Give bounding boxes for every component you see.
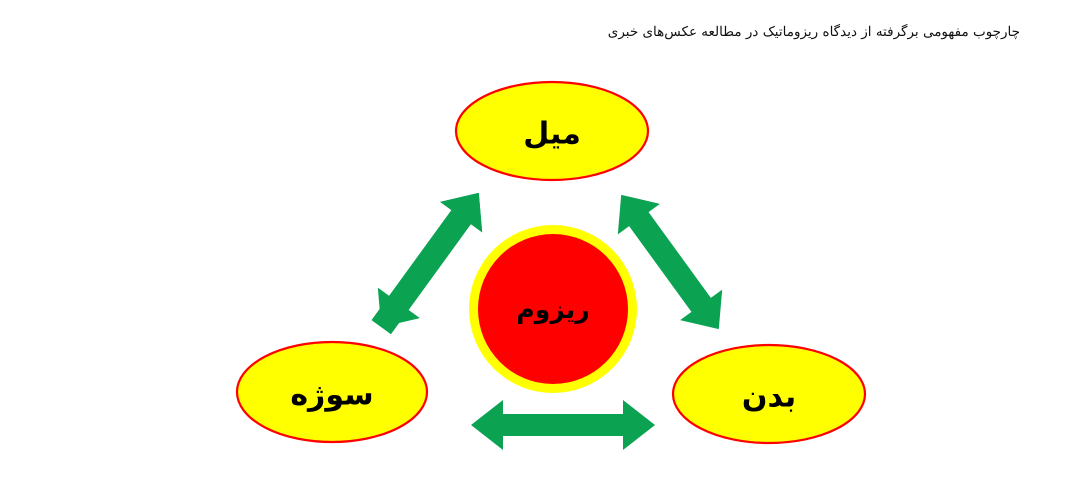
bottom-right-node-label: بدن [742,380,796,415]
node-bottom-left-subject[interactable]: سوژه [237,342,427,442]
top-node-label: میل [523,117,581,152]
node-bottom-right-body[interactable]: بدن [673,345,865,443]
center-node-label: ریزوم [516,295,589,325]
node-center-rhizome[interactable]: ریزوم [469,225,637,393]
rhizome-diagram: top (diagonal, pointing up-right / down-… [0,0,1092,483]
node-top-desire[interactable]: میل [456,82,648,180]
bottom-left-node-label: سوژه [290,378,373,413]
figure-root: چارچوب مفهومی برگرفته از دیدگاه ریزوماتی… [0,0,1092,483]
arrow-subject-body[interactable] [471,400,655,450]
